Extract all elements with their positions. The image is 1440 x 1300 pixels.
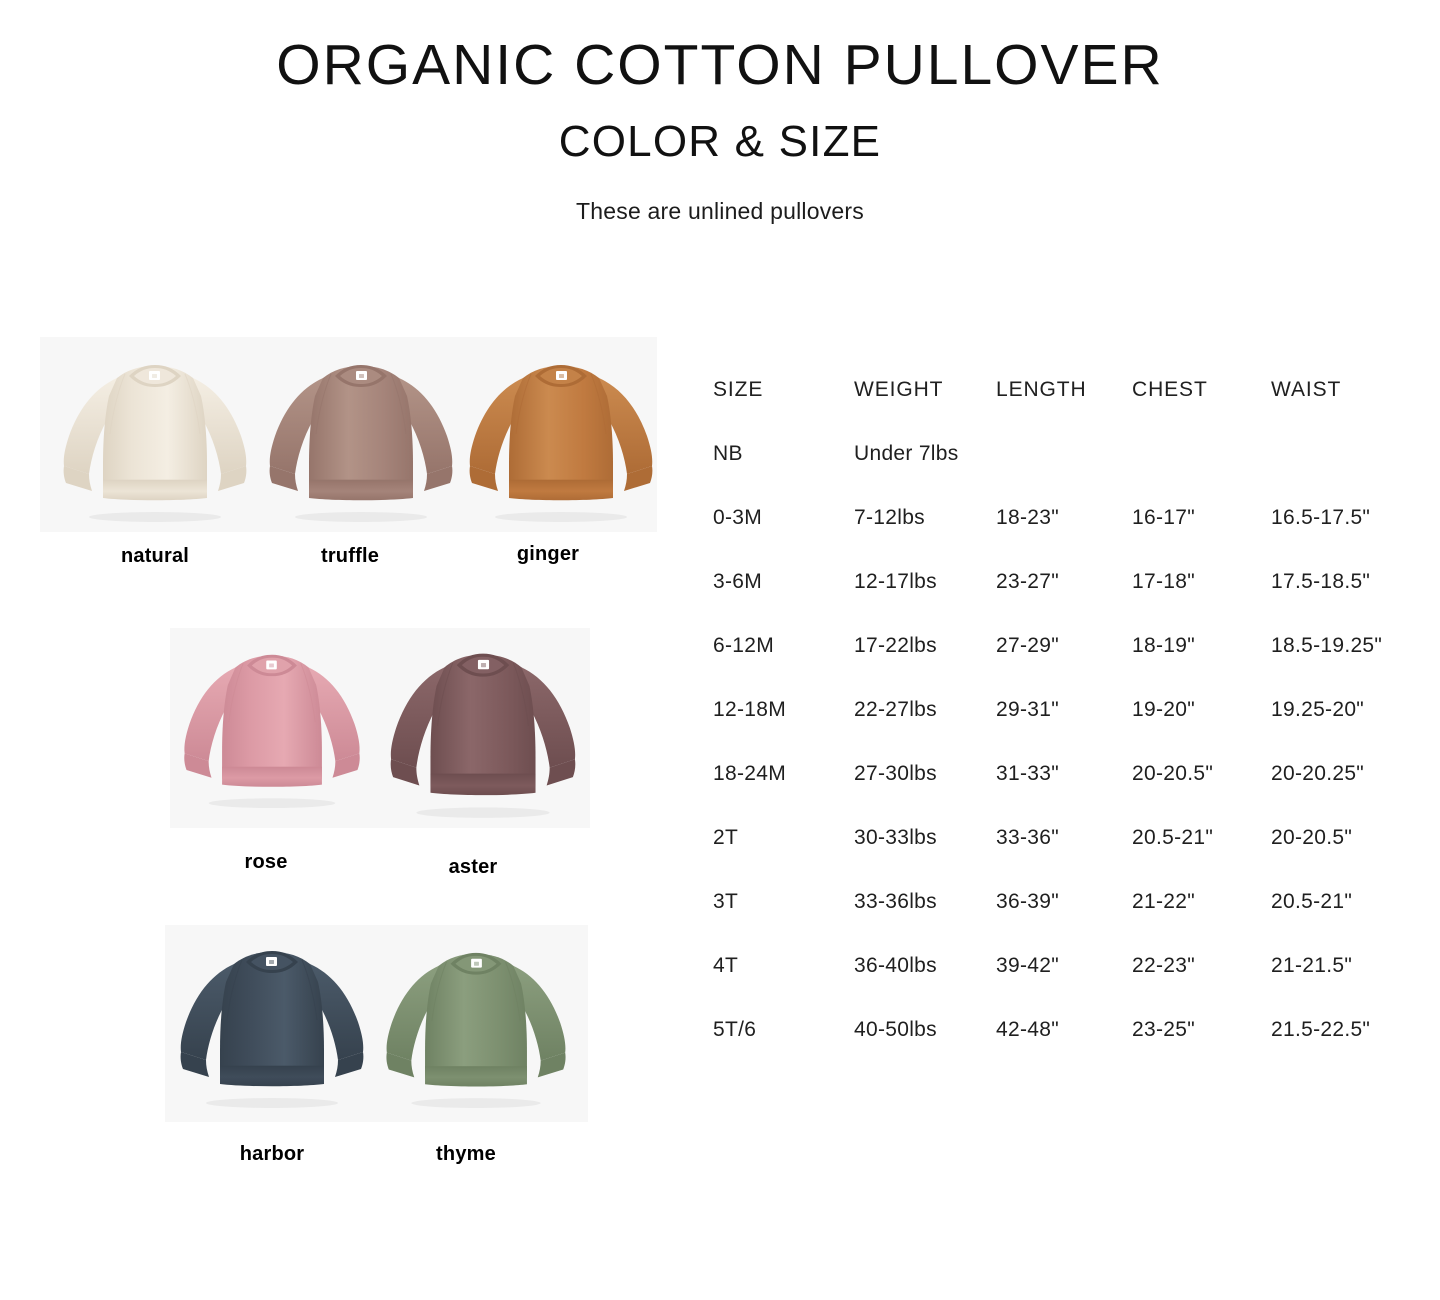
column-header-waist: WAIST <box>1271 378 1421 402</box>
page-header: ORGANIC COTTON PULLOVER COLOR & SIZE The… <box>0 0 1440 223</box>
table-row: 0-3M7-12lbs18-23"16-17"16.5-17.5" <box>713 506 1421 570</box>
column-header-chest: CHEST <box>1132 378 1271 402</box>
cell-length: 29-31" <box>996 698 1132 722</box>
garment-harbor[interactable] <box>172 938 372 1110</box>
table-row: NBUnder 7lbs <box>713 442 1421 506</box>
table-row: 5T/640-50lbs42-48"23-25"21.5-22.5" <box>713 1018 1421 1082</box>
cell-weight: 40-50lbs <box>854 1018 996 1042</box>
cell-waist: 17.5-18.5" <box>1271 570 1421 594</box>
page-subtitle: COLOR & SIZE <box>0 120 1440 164</box>
cell-weight: 7-12lbs <box>854 506 996 530</box>
cell-chest: 22-23" <box>1132 954 1271 978</box>
cell-waist: 21-21.5" <box>1271 954 1421 978</box>
cell-waist: 18.5-19.25" <box>1271 634 1421 658</box>
garment-natural[interactable] <box>55 352 255 524</box>
cell-weight: 12-17lbs <box>854 570 996 594</box>
cell-length: 33-36" <box>996 826 1132 850</box>
color-label-aster: aster <box>373 856 573 879</box>
cell-chest: 20.5-21" <box>1132 826 1271 850</box>
table-row: 3-6M12-17lbs23-27"17-18"17.5-18.5" <box>713 570 1421 634</box>
cell-length: 36-39" <box>996 890 1132 914</box>
cell-weight: 36-40lbs <box>854 954 996 978</box>
size-chart-table: SIZE WEIGHT LENGTH CHEST WAIST NBUnder 7… <box>713 378 1421 1082</box>
color-label-ginger: ginger <box>448 543 648 566</box>
cell-waist: 20-20.25" <box>1271 762 1421 786</box>
cell-length: 27-29" <box>996 634 1132 658</box>
size-chart-page: ORGANIC COTTON PULLOVER COLOR & SIZE The… <box>0 0 1440 1300</box>
sweater-illustration <box>461 352 661 524</box>
garment-rose[interactable] <box>176 642 368 810</box>
cell-size: 6-12M <box>713 634 854 658</box>
table-body: NBUnder 7lbs0-3M7-12lbs18-23"16-17"16.5-… <box>713 442 1421 1082</box>
cell-chest: 19-20" <box>1132 698 1271 722</box>
cell-chest: 23-25" <box>1132 1018 1271 1042</box>
sweater-illustration <box>172 938 372 1110</box>
garment-ginger[interactable] <box>461 352 661 524</box>
page-tagline: These are unlined pullovers <box>0 200 1440 223</box>
column-header-weight: WEIGHT <box>854 378 996 402</box>
cell-chest: 16-17" <box>1132 506 1271 530</box>
cell-size: 2T <box>713 826 854 850</box>
cell-waist: 16.5-17.5" <box>1271 506 1421 530</box>
cell-chest: 20-20.5" <box>1132 762 1271 786</box>
cell-chest: 18-19" <box>1132 634 1271 658</box>
column-header-size: SIZE <box>713 378 854 402</box>
table-row: 18-24M27-30lbs31-33"20-20.5"20-20.25" <box>713 762 1421 826</box>
color-label-natural: natural <box>55 545 255 568</box>
sweater-illustration <box>55 352 255 524</box>
cell-size: 4T <box>713 954 854 978</box>
cell-waist: 20.5-21" <box>1271 890 1421 914</box>
sweater-illustration <box>261 352 461 524</box>
cell-length: 39-42" <box>996 954 1132 978</box>
color-label-truffle: truffle <box>250 545 450 568</box>
cell-chest: 21-22" <box>1132 890 1271 914</box>
sweater-illustration <box>382 640 584 820</box>
cell-waist: 21.5-22.5" <box>1271 1018 1421 1042</box>
cell-length: 18-23" <box>996 506 1132 530</box>
page-title: ORGANIC COTTON PULLOVER <box>0 37 1440 94</box>
color-label-harbor: harbor <box>172 1143 372 1166</box>
table-row: 3T33-36lbs36-39"21-22"20.5-21" <box>713 890 1421 954</box>
cell-weight: 17-22lbs <box>854 634 996 658</box>
cell-size: 0-3M <box>713 506 854 530</box>
column-header-length: LENGTH <box>996 378 1132 402</box>
sweater-illustration <box>176 642 368 810</box>
cell-weight: 22-27lbs <box>854 698 996 722</box>
cell-size: 3-6M <box>713 570 854 594</box>
cell-size: 5T/6 <box>713 1018 854 1042</box>
color-label-rose: rose <box>166 851 366 874</box>
cell-size: 3T <box>713 890 854 914</box>
cell-weight: 27-30lbs <box>854 762 996 786</box>
table-row: 6-12M17-22lbs27-29"18-19"18.5-19.25" <box>713 634 1421 698</box>
color-label-thyme: thyme <box>366 1143 566 1166</box>
sweater-illustration <box>378 940 574 1110</box>
cell-length: 31-33" <box>996 762 1132 786</box>
table-header-row: SIZE WEIGHT LENGTH CHEST WAIST <box>713 378 1421 442</box>
table-row: 4T36-40lbs39-42"22-23"21-21.5" <box>713 954 1421 1018</box>
garment-truffle[interactable] <box>261 352 461 524</box>
garment-thyme[interactable] <box>378 940 574 1110</box>
cell-size: 18-24M <box>713 762 854 786</box>
cell-weight: 30-33lbs <box>854 826 996 850</box>
cell-waist: 19.25-20" <box>1271 698 1421 722</box>
cell-weight: Under 7lbs <box>854 442 996 466</box>
table-row: 2T30-33lbs33-36"20.5-21"20-20.5" <box>713 826 1421 890</box>
cell-size: 12-18M <box>713 698 854 722</box>
cell-size: NB <box>713 442 854 466</box>
cell-length: 23-27" <box>996 570 1132 594</box>
garment-aster[interactable] <box>382 640 584 820</box>
cell-waist: 20-20.5" <box>1271 826 1421 850</box>
cell-length: 42-48" <box>996 1018 1132 1042</box>
cell-chest: 17-18" <box>1132 570 1271 594</box>
cell-weight: 33-36lbs <box>854 890 996 914</box>
table-row: 12-18M22-27lbs29-31"19-20"19.25-20" <box>713 698 1421 762</box>
